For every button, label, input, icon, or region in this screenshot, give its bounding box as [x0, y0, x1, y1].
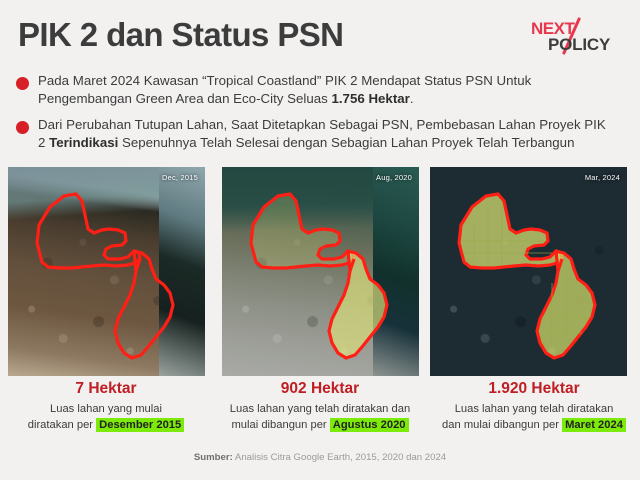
- list-item: Dari Perubahan Tutupan Lahan, Saat Ditet…: [14, 116, 614, 152]
- satellite-panel-2020[interactable]: Aug, 2020: [222, 167, 419, 376]
- caption-value: 7 Hektar: [0, 380, 212, 398]
- panel-date-label: Mar, 2024: [585, 173, 620, 182]
- caption-line-1: Luas lahan yang telah diratakan: [455, 403, 614, 415]
- caption-line-2-prefix: diratakan per: [28, 419, 96, 431]
- bullet-1-seg-2: .: [410, 91, 414, 106]
- bullet-2-seg-1: Terindikasi: [49, 135, 118, 150]
- page-header: PIK 2 dan Status PSN NEXT POLICY: [0, 0, 640, 72]
- panel-date-label: Aug, 2020: [376, 173, 412, 182]
- source-label: Sumber:: [194, 452, 233, 463]
- source-note: Sumber: Analisis Citra Google Earth, 201…: [0, 452, 640, 463]
- bullet-2-seg-2: Sepenuhnya Telah Selesai dengan Sebagian…: [118, 135, 574, 150]
- red-dot-bullet-icon: [16, 77, 29, 90]
- list-item: Pada Maret 2024 Kawasan “Tropical Coastl…: [14, 72, 614, 108]
- brand-logo: NEXT POLICY: [526, 14, 630, 62]
- caption-description: Luas lahan yang mulai diratakan per Dese…: [0, 402, 212, 434]
- bullet-1-seg-1: 1.756 Hektar: [331, 91, 409, 106]
- caption-group: 7 Hektar Luas lahan yang mulai diratakan…: [0, 380, 640, 442]
- bullet-1-seg-0: Pada Maret 2024 Kawasan “Tropical Coastl…: [38, 73, 531, 106]
- bullet-text-2: Dari Perubahan Tutupan Lahan, Saat Ditet…: [38, 116, 614, 152]
- boundary-overlay-2020: [222, 167, 419, 376]
- logo-text-policy: POLICY: [548, 36, 610, 53]
- page-title: PIK 2 dan Status PSN: [18, 18, 343, 51]
- caption-value: 1.920 Hektar: [428, 380, 640, 398]
- caption-line-2-prefix: mulai dibangun per: [231, 419, 329, 431]
- satellite-panel-2015[interactable]: Dec, 2015: [8, 167, 205, 376]
- bullet-text-1: Pada Maret 2024 Kawasan “Tropical Coastl…: [38, 72, 614, 108]
- caption-highlight-date: Desember 2015: [96, 418, 184, 432]
- key-points-list: Pada Maret 2024 Kawasan “Tropical Coastl…: [14, 72, 614, 160]
- red-dot-bullet-icon: [16, 121, 29, 134]
- caption-2020: 902 Hektar Luas lahan yang telah diratak…: [214, 380, 426, 434]
- caption-description: Luas lahan yang telah diratakan dan mula…: [428, 402, 640, 434]
- boundary-overlay-2024: [430, 167, 627, 376]
- caption-2015: 7 Hektar Luas lahan yang mulai diratakan…: [0, 380, 212, 434]
- satellite-panel-2024[interactable]: Mar, 2024: [430, 167, 627, 376]
- satellite-panel-group: Dec, 2015 Aug, 2020 Mar: [0, 167, 640, 377]
- caption-description: Luas lahan yang telah diratakan dan mula…: [214, 402, 426, 434]
- panel-date-label: Dec, 2015: [162, 173, 198, 182]
- caption-highlight-date: Maret 2024: [562, 418, 626, 432]
- boundary-overlay-2015: [8, 167, 205, 376]
- caption-highlight-date: Agustus 2020: [330, 418, 409, 432]
- caption-line-1: Luas lahan yang mulai: [50, 403, 162, 415]
- caption-line-2-prefix: dan mulai dibangun per: [442, 419, 562, 431]
- source-text: Analisis Citra Google Earth, 2015, 2020 …: [233, 452, 446, 463]
- caption-line-1: Luas lahan yang telah diratakan dan: [230, 403, 410, 415]
- caption-2024: 1.920 Hektar Luas lahan yang telah dirat…: [428, 380, 640, 434]
- caption-value: 902 Hektar: [214, 380, 426, 398]
